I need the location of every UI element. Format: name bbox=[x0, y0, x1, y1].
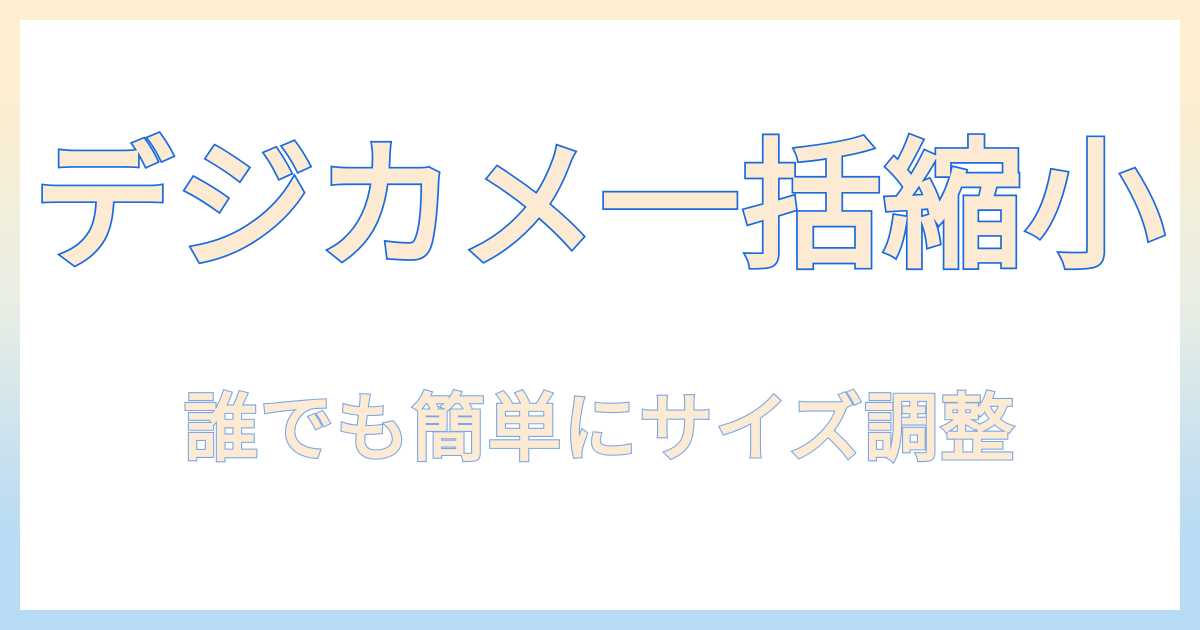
poster-frame: デジカメ一括縮小 誰でも簡単にサイズ調整 bbox=[0, 0, 1200, 630]
page-title: デジカメ一括縮小 bbox=[20, 138, 1180, 278]
subheadline-block: 誰でも簡単にサイズ調整 bbox=[20, 392, 1180, 466]
page-subtitle: 誰でも簡単にサイズ調整 bbox=[20, 392, 1180, 466]
poster-card: デジカメ一括縮小 誰でも簡単にサイズ調整 bbox=[20, 20, 1180, 610]
headline-block: デジカメ一括縮小 bbox=[20, 138, 1180, 278]
